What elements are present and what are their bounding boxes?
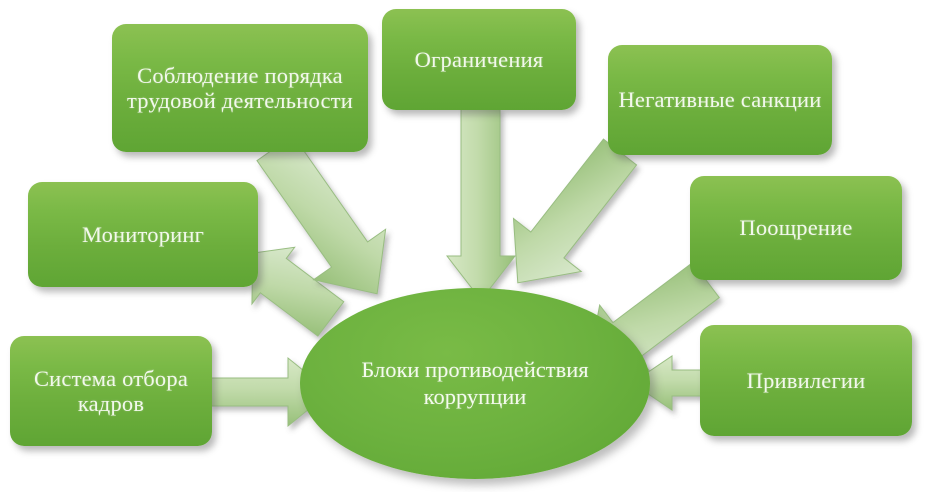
center-node-label: Блоки противодействия коррупции bbox=[340, 357, 610, 409]
center-node-blocks-of-anticorruption[interactable]: Блоки противодействия коррупции bbox=[300, 288, 650, 479]
node-compliance[interactable]: Соблюдение порядка трудовой деятельности bbox=[112, 24, 368, 152]
node-restrictions[interactable]: Ограничения bbox=[382, 9, 576, 110]
node-privileges[interactable]: Привилегии bbox=[700, 325, 912, 436]
node-privileges-label: Привилегии bbox=[747, 368, 866, 393]
node-compliance-label: Соблюдение порядка трудовой деятельности bbox=[118, 63, 362, 113]
node-encouragement[interactable]: Поощрение bbox=[690, 176, 902, 280]
node-negative-sanctions-label: Негативные санкции bbox=[618, 87, 821, 112]
node-monitoring[interactable]: Мониторинг bbox=[28, 182, 258, 287]
node-monitoring-label: Мониторинг bbox=[82, 222, 204, 247]
diagram-canvas: Соблюдение порядка трудовой деятельности… bbox=[0, 0, 925, 492]
node-encouragement-label: Поощрение bbox=[739, 215, 852, 240]
node-staff-selection[interactable]: Система отбора кадров bbox=[10, 336, 212, 446]
arrow-restrictions-to-center bbox=[447, 108, 515, 300]
node-staff-selection-label: Система отбора кадров bbox=[16, 366, 206, 416]
node-restrictions-label: Ограничения bbox=[415, 47, 544, 72]
node-negative-sanctions[interactable]: Негативные санкции bbox=[608, 45, 832, 155]
